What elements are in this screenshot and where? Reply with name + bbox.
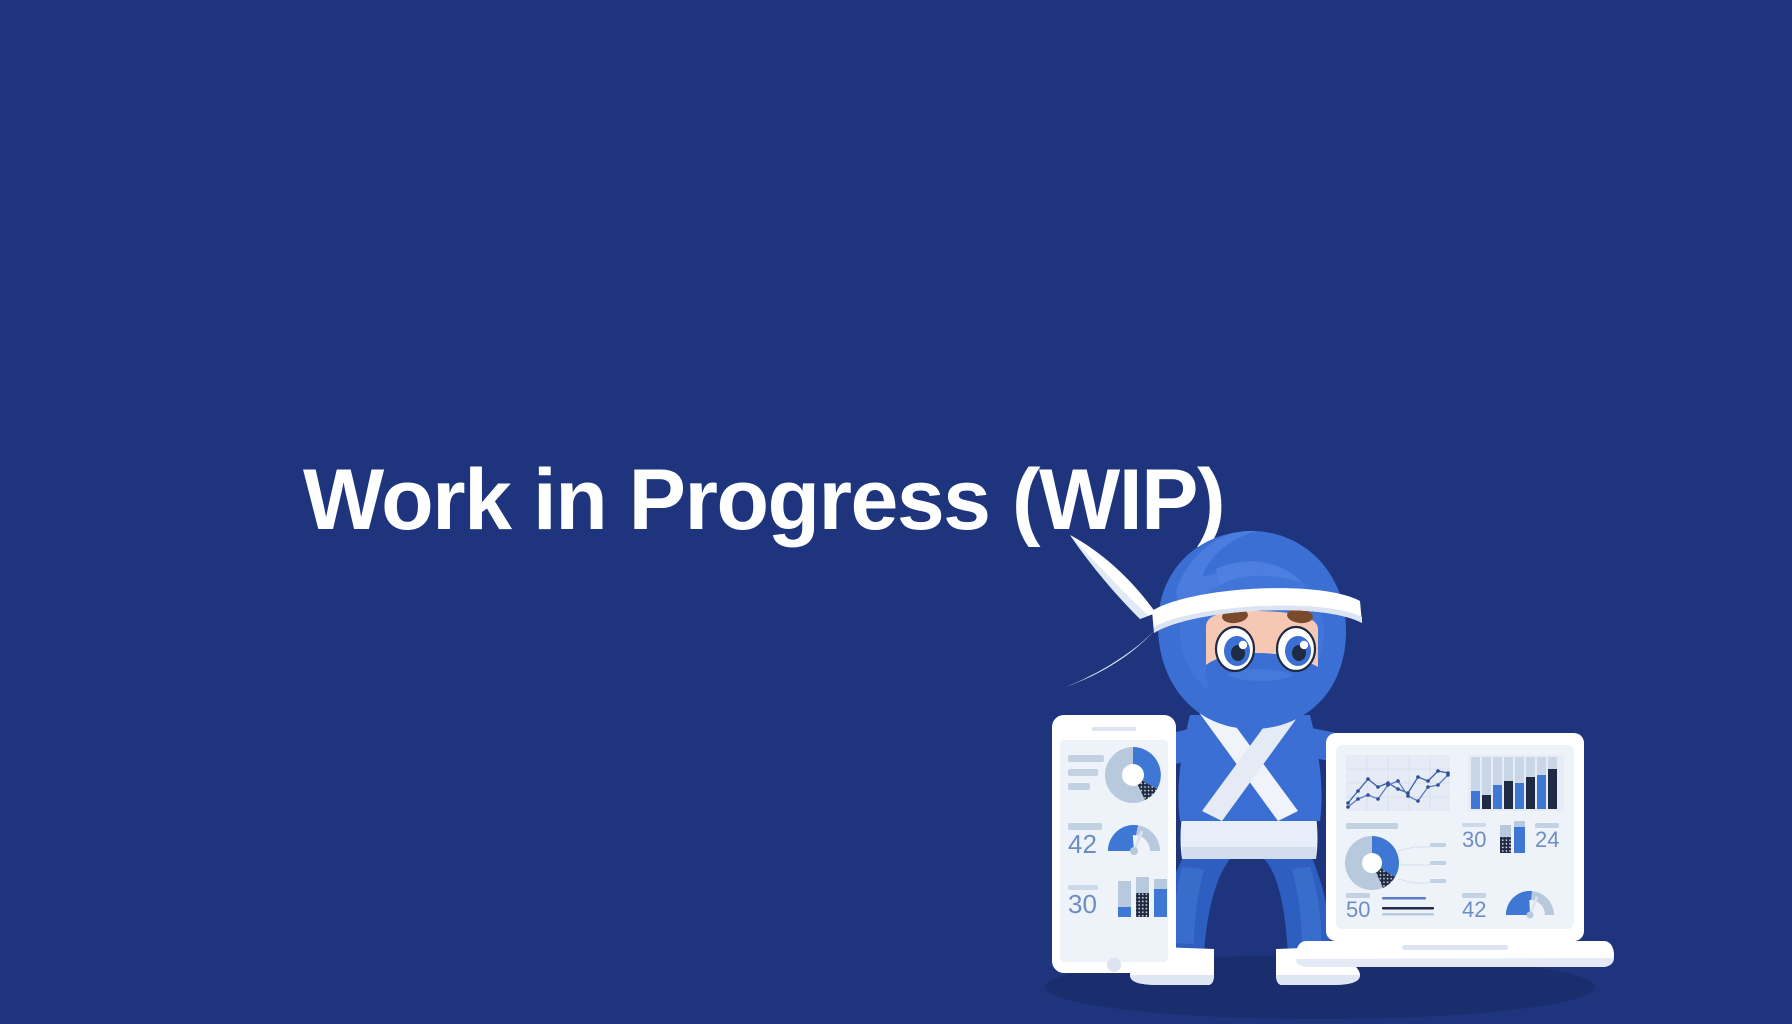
headband-ribbon-lower-shade [1066,631,1154,687]
right-shoe-shade [1276,975,1360,985]
phone-bar-chart [1118,877,1167,917]
ninja-head [1066,531,1362,729]
headband-ribbon-upper-shade [1070,535,1148,619]
ninja-analytics-illustration: 42 30 [1030,515,1590,1015]
left-shoe-shade [1130,975,1214,985]
headband-ribbon-lower [1066,631,1154,687]
laptop-bar-chart [1468,755,1564,811]
laptop-metric-42: 42 [1462,897,1486,922]
ninja-belt-shade [1182,847,1316,859]
phone-metric-30: 30 [1068,889,1097,919]
laptop-base-shade [1296,958,1614,967]
laptop-dashboard[interactable]: 30 24 50 [1296,733,1614,967]
ninja-right-eye [1277,627,1315,671]
headband-ribbon-upper [1070,535,1156,619]
screen-canvas: Work in Progress (WIP) [0,0,1792,1024]
ninja-legs [1160,845,1330,955]
phone-metric-42: 42 [1068,829,1097,859]
laptop-line-chart [1346,755,1450,811]
laptop-metric-30: 30 [1462,827,1486,852]
laptop-trackpad-notch [1402,945,1508,950]
laptop-metric-24: 24 [1535,827,1559,852]
smartphone-dashboard[interactable]: 42 30 [1052,715,1176,973]
phone-donut-chart [1105,747,1161,803]
ninja-left-eye [1216,627,1254,671]
laptop-donut-chart [1345,836,1399,890]
laptop-metric-50: 50 [1346,897,1370,922]
phone-home-button[interactable] [1107,958,1121,972]
